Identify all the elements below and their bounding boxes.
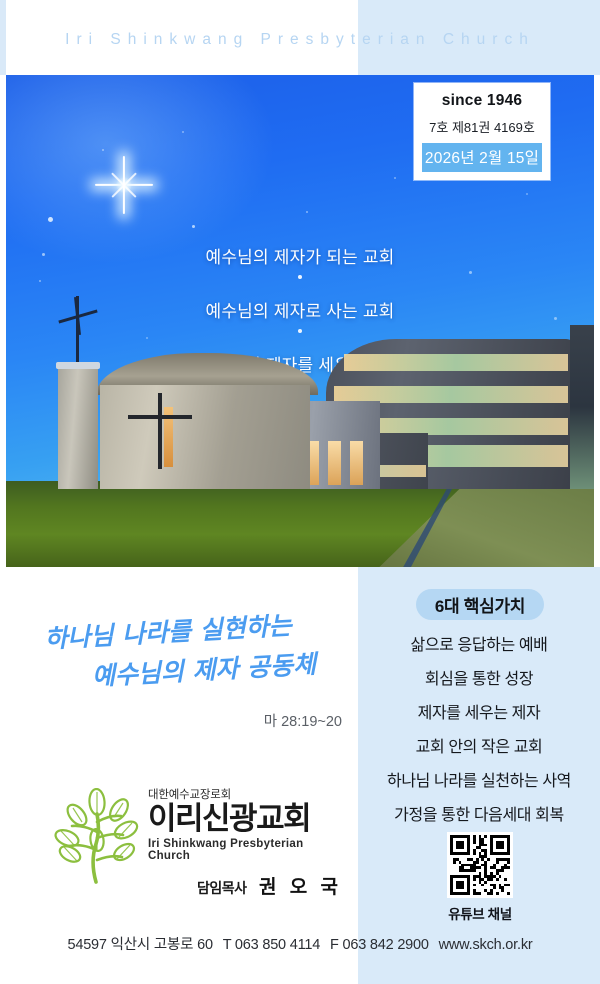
core-value-item: 삶으로 응답하는 예배 xyxy=(360,631,598,655)
glass-facade-edge xyxy=(570,325,594,489)
issue-date-box: since 1946 7호 제81권 4169호 2026년 2월 15일 xyxy=(414,83,550,180)
qr-modules xyxy=(450,835,510,895)
slogan-separator-dot xyxy=(298,329,302,333)
issue-date: 2026년 2월 15일 xyxy=(422,143,542,172)
chapel-building xyxy=(100,385,310,489)
star-rays-diagonal-icon xyxy=(121,182,127,188)
core-value-item: 회심을 통한 성장 xyxy=(360,665,598,689)
slogan-separator-dot xyxy=(298,275,302,279)
church-building-photo xyxy=(6,337,594,567)
church-name-kr: 이리신광교회 xyxy=(148,803,348,836)
core-values-list: 삶으로 응답하는 예배 회심을 통한 성장 제자를 세우는 제자 교회 안의 작… xyxy=(360,631,598,825)
pastor-row: 담임목사 권 오 국 xyxy=(52,872,342,899)
footer-address: 54597 익산시 고봉로 60 xyxy=(67,937,212,953)
page-title: Iri Shinkwang Presbyterian Church xyxy=(0,31,600,49)
core-value-item: 제자를 세우는 제자 xyxy=(360,699,598,723)
denomination-name: 대한예수교장로회 xyxy=(148,786,348,802)
bulletin-cover: Iri Shinkwang Presbyterian Church 예수님의 제… xyxy=(0,0,600,984)
vision-calligraphy: 하나님 나라를 실현하는 예수님의 제자 공동체 xyxy=(22,612,342,691)
facade-cross-horizontal-icon xyxy=(128,415,192,419)
footer-website[interactable]: www.skch.or.kr xyxy=(439,937,533,953)
bell-tower xyxy=(58,367,98,489)
since-label: since 1946 xyxy=(422,92,542,110)
footer-tel: T 063 850 4114 xyxy=(223,937,320,953)
pastor-label: 담임목사 xyxy=(197,880,247,896)
contact-footer: 54597 익산시 고봉로 60 T 063 850 4114 F 063 84… xyxy=(0,933,600,954)
qr-label: 유튜브 채널 xyxy=(432,903,528,923)
slogan-line-1: 예수님의 제자가 되는 교회 xyxy=(6,243,594,268)
logo-text-block: 대한예수교장로회 이리신광교회 Iri Shinkwang Presbyteri… xyxy=(148,786,348,862)
tower-cap xyxy=(56,362,100,369)
footer-fax: F 063 842 2900 xyxy=(330,937,429,953)
facade-cross-vertical-icon xyxy=(158,393,162,469)
qr-code-icon[interactable] xyxy=(447,832,513,898)
scripture-reference: 마 28:19~20 xyxy=(22,710,342,731)
youtube-qr-block[interactable]: 유튜브 채널 xyxy=(447,832,513,923)
core-value-item: 교회 안의 작은 교회 xyxy=(360,733,598,757)
pastor-name: 권 오 국 xyxy=(259,877,342,898)
church-name-en: Iri Shinkwang Presbyterian Church xyxy=(148,838,348,862)
core-value-item: 가정을 통한 다음세대 회복 xyxy=(360,801,598,825)
issue-number: 7호 제81권 4169호 xyxy=(422,117,542,136)
core-value-item: 하나님 나라를 실천하는 사역 xyxy=(360,767,598,791)
core-values-badge: 6대 핵심가치 xyxy=(416,589,544,620)
tree-logo-icon xyxy=(52,788,144,884)
